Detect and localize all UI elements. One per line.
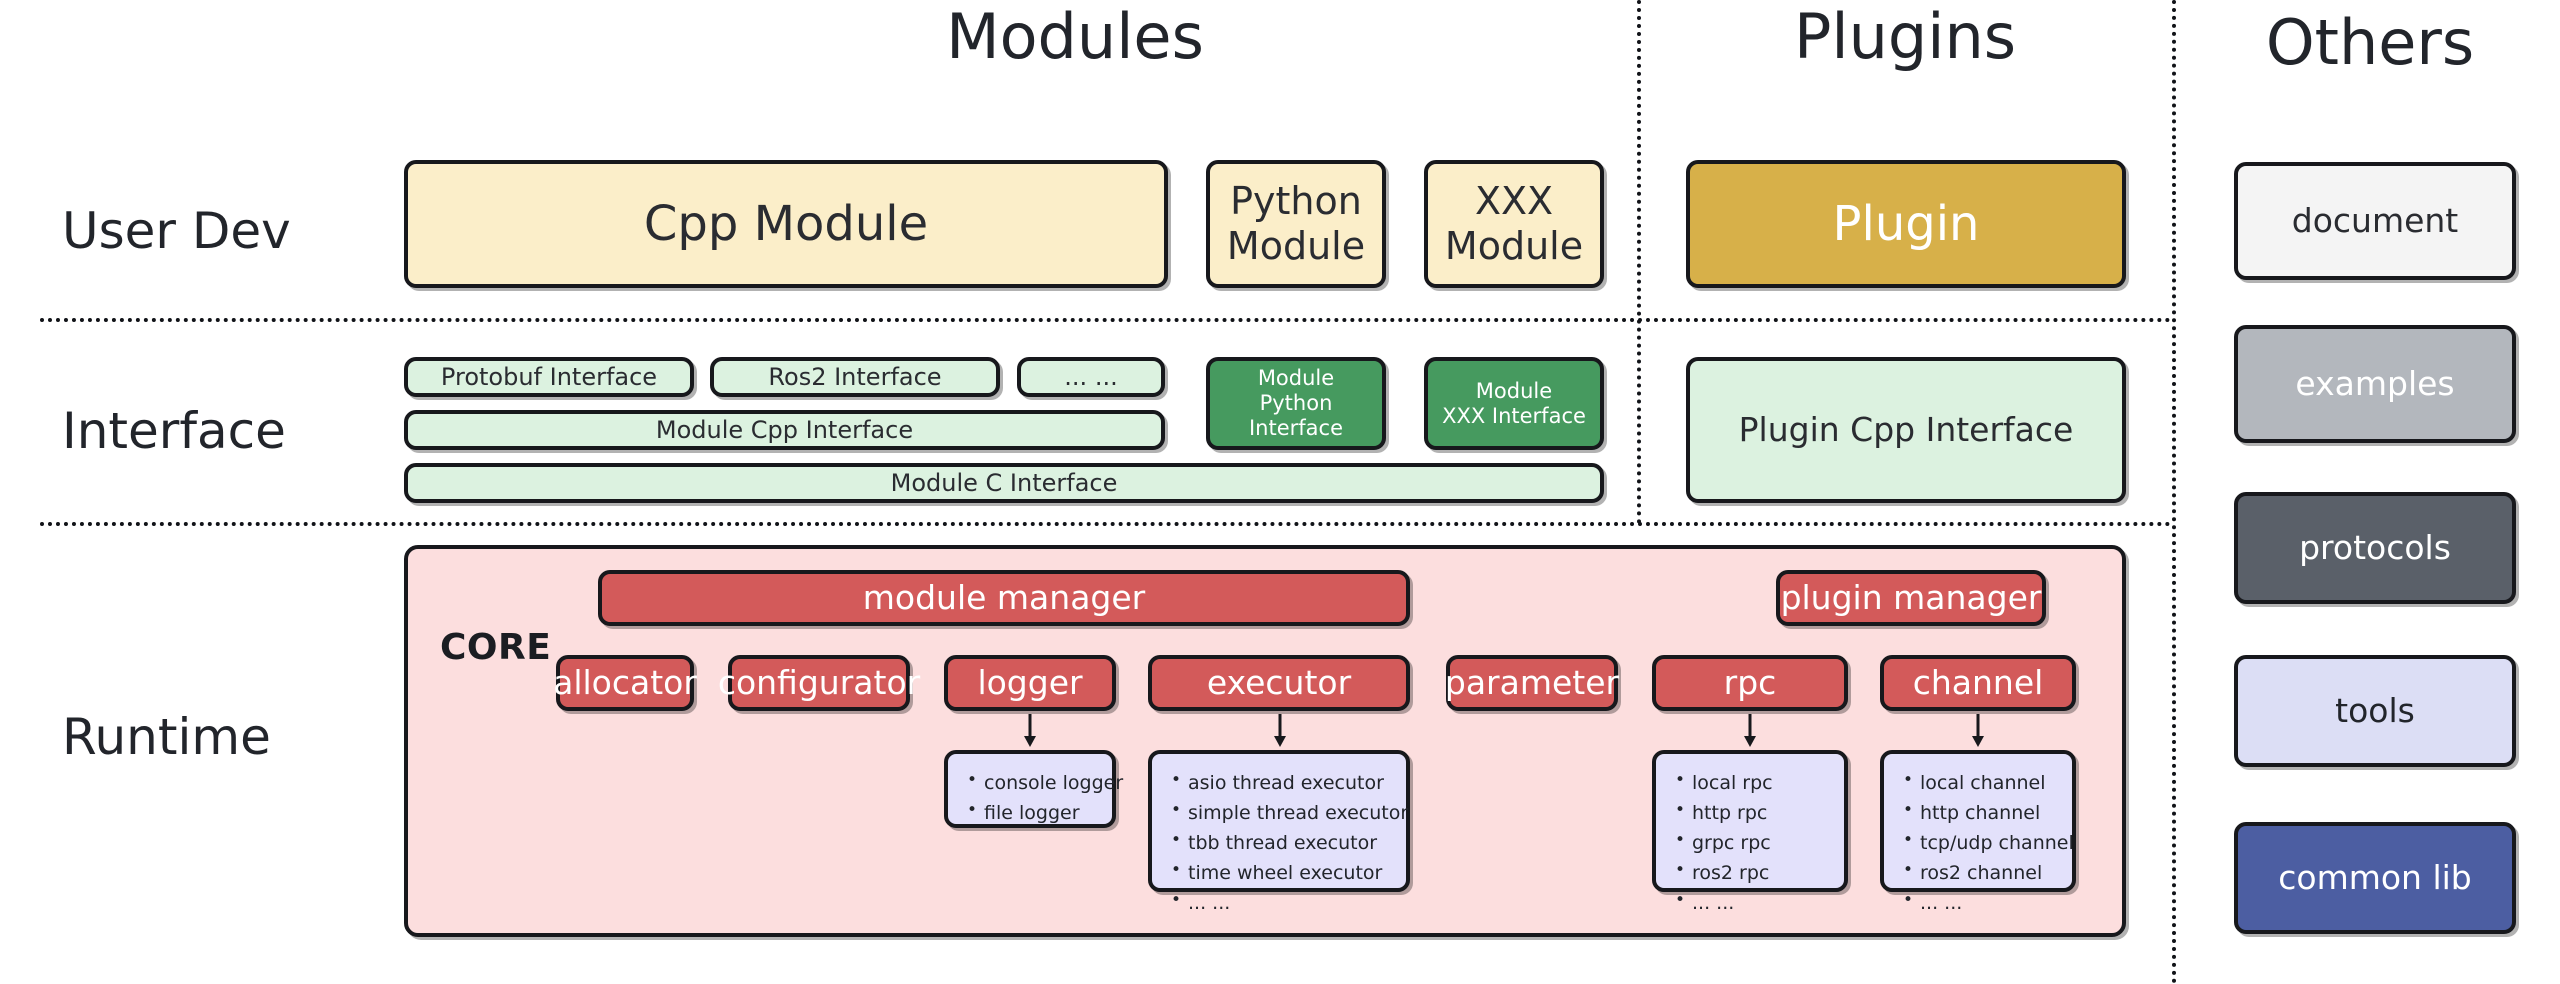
arrow-down-logger-icon	[1018, 714, 1042, 748]
module-manager-label: module manager	[863, 579, 1145, 618]
arrow-down-executor-icon	[1268, 714, 1292, 748]
rpc-details-box: local rpchttp rpcgrpc rpcros2 rpc... ...	[1652, 750, 1848, 892]
module-python-interface-label: Module Python Interface	[1210, 366, 1382, 440]
logger-details-list: console loggerfile logger	[960, 768, 1098, 828]
ros2-interface-box[interactable]: Ros2 Interface	[710, 357, 1000, 397]
column-header-modules: Modules	[520, 6, 1630, 68]
column-header-others: Others	[2185, 12, 2555, 74]
logger-label: logger	[977, 664, 1082, 703]
others-common-lib-box[interactable]: common lib	[2234, 822, 2516, 934]
module-xxx-interface-box[interactable]: Module XXX Interface	[1424, 357, 1604, 450]
core-label: CORE	[440, 627, 551, 668]
arrow-down-rpc-icon	[1738, 714, 1762, 748]
list-item: grpc rpc	[1692, 828, 1830, 858]
others-document-box[interactable]: document	[2234, 162, 2516, 280]
others-examples-label: examples	[2295, 365, 2454, 404]
plugin-label: Plugin	[1833, 196, 1980, 253]
plugin-box[interactable]: Plugin	[1686, 160, 2126, 288]
list-item: time wheel executor	[1188, 858, 1392, 888]
python-module-box[interactable]: Python Module	[1206, 160, 1386, 288]
parameter-label: parameter	[1445, 664, 1619, 703]
xxx-module-label: XXX Module	[1445, 179, 1583, 269]
divider-userdev-interface	[40, 318, 2172, 322]
arrow-down-channel-icon	[1966, 714, 1990, 748]
row-label-runtime: Runtime	[62, 712, 271, 762]
plugin-manager-label: plugin manager	[1781, 579, 2042, 618]
others-common-lib-label: common lib	[2278, 859, 2472, 898]
others-protocols-box[interactable]: protocols	[2234, 492, 2516, 604]
executor-details-box: asio thread executorsimple thread execut…	[1148, 750, 1410, 892]
list-item: tcp/udp channel	[1920, 828, 2058, 858]
list-item: http rpc	[1692, 798, 1830, 828]
channel-label: channel	[1913, 664, 2044, 703]
rpc-box[interactable]: rpc	[1652, 655, 1848, 711]
logger-box[interactable]: logger	[944, 655, 1116, 711]
others-protocols-label: protocols	[2299, 529, 2451, 568]
channel-box[interactable]: channel	[1880, 655, 2076, 711]
module-cpp-interface-label: Module Cpp Interface	[656, 416, 913, 444]
architecture-diagram: Modules Plugins Others User Dev Interfac…	[0, 0, 2560, 984]
others-examples-box[interactable]: examples	[2234, 325, 2516, 443]
channel-details-list: local channelhttp channeltcp/udp channel…	[1896, 768, 2058, 918]
list-item: console logger	[984, 768, 1098, 798]
divider-plugins-others	[2172, 0, 2176, 984]
list-item: ros2 channel	[1920, 858, 2058, 888]
xxx-module-box[interactable]: XXX Module	[1424, 160, 1604, 288]
plugin-cpp-interface-label: Plugin Cpp Interface	[1739, 411, 2074, 450]
more-interfaces-label: ... ...	[1064, 363, 1117, 391]
executor-details-list: asio thread executorsimple thread execut…	[1164, 768, 1392, 918]
others-tools-label: tools	[2335, 692, 2415, 731]
rpc-label: rpc	[1724, 664, 1777, 703]
protobuf-interface-label: Protobuf Interface	[441, 363, 657, 391]
plugin-manager-box[interactable]: plugin manager	[1776, 570, 2046, 626]
list-item: local rpc	[1692, 768, 1830, 798]
logger-details-box: console loggerfile logger	[944, 750, 1116, 828]
module-c-interface-label: Module C Interface	[891, 469, 1118, 497]
list-item: simple thread executor	[1188, 798, 1392, 828]
list-item: ros2 rpc	[1692, 858, 1830, 888]
column-header-plugins: Plugins	[1645, 6, 2165, 68]
protobuf-interface-box[interactable]: Protobuf Interface	[404, 357, 694, 397]
plugin-cpp-interface-box[interactable]: Plugin Cpp Interface	[1686, 357, 2126, 503]
module-xxx-interface-label: Module XXX Interface	[1442, 379, 1586, 429]
others-tools-box[interactable]: tools	[2234, 655, 2516, 767]
divider-interface-runtime	[40, 522, 2172, 526]
module-c-interface-box[interactable]: Module C Interface	[404, 463, 1604, 503]
rpc-details-list: local rpchttp rpcgrpc rpcros2 rpc... ...	[1668, 768, 1830, 918]
ros2-interface-label: Ros2 Interface	[768, 363, 941, 391]
allocator-box[interactable]: allocator	[556, 655, 694, 711]
parameter-box[interactable]: parameter	[1446, 655, 1618, 711]
module-manager-box[interactable]: module manager	[598, 570, 1410, 626]
divider-modules-plugins	[1637, 0, 1641, 524]
allocator-label: allocator	[553, 664, 697, 703]
list-item: tbb thread executor	[1188, 828, 1392, 858]
more-interfaces-box[interactable]: ... ...	[1017, 357, 1165, 397]
list-item: ... ...	[1692, 888, 1830, 918]
list-item: http channel	[1920, 798, 2058, 828]
row-label-user-dev: User Dev	[62, 206, 291, 256]
cpp-module-label: Cpp Module	[644, 196, 928, 253]
list-item: file logger	[984, 798, 1098, 828]
row-label-interface: Interface	[62, 406, 286, 456]
python-module-label: Python Module	[1227, 179, 1365, 269]
channel-details-box: local channelhttp channeltcp/udp channel…	[1880, 750, 2076, 892]
list-item: local channel	[1920, 768, 2058, 798]
list-item: ... ...	[1920, 888, 2058, 918]
cpp-module-box[interactable]: Cpp Module	[404, 160, 1168, 288]
list-item: ... ...	[1188, 888, 1392, 918]
module-python-interface-box[interactable]: Module Python Interface	[1206, 357, 1386, 450]
executor-box[interactable]: executor	[1148, 655, 1410, 711]
list-item: asio thread executor	[1188, 768, 1392, 798]
others-document-label: document	[2292, 202, 2459, 241]
configurator-label: configurator	[718, 664, 920, 703]
module-cpp-interface-box[interactable]: Module Cpp Interface	[404, 410, 1165, 450]
executor-label: executor	[1207, 664, 1351, 703]
configurator-box[interactable]: configurator	[728, 655, 910, 711]
